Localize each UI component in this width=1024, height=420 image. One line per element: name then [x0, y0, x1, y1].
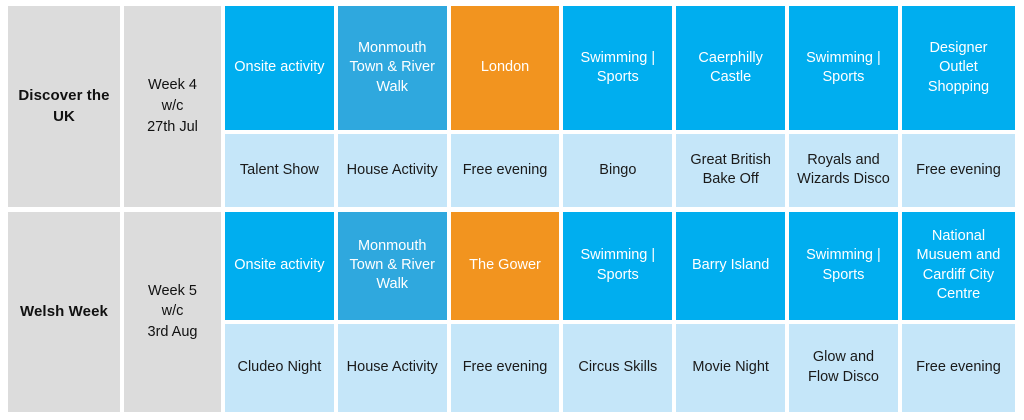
week-number: Week 4	[147, 75, 198, 96]
evening-activity-cell[interactable]: Bingo	[563, 134, 672, 207]
evening-activity-cell[interactable]: Cludeo Night	[225, 324, 334, 413]
day-activity-cell[interactable]: Swimming | Sports	[563, 6, 672, 130]
evening-activity-cell[interactable]: Free evening	[451, 134, 560, 207]
day-column: Caerphilly Castle Great British Bake Off	[676, 6, 785, 207]
day-column: Swimming | Sports Royals and Wizards Dis…	[789, 6, 898, 207]
day-activity-cell[interactable]: Monmouth Town & River Walk	[338, 212, 447, 320]
day-column: Swimming | Sports Glow and Flow Disco	[789, 212, 898, 413]
evening-activity-cell[interactable]: House Activity	[338, 324, 447, 413]
day-activity-cell[interactable]: The Gower	[451, 212, 560, 320]
evening-activity-cell[interactable]: Free evening	[902, 134, 1015, 207]
day-activity-cell[interactable]: Swimming | Sports	[789, 212, 898, 320]
week-theme-label: Discover the UK	[8, 6, 120, 207]
evening-activity-cell[interactable]: Royals and Wizards Disco	[789, 134, 898, 207]
day-activity-cell[interactable]: Swimming | Sports	[789, 6, 898, 130]
day-column: Swimming | Sports Bingo	[563, 6, 672, 207]
evening-activity-cell[interactable]: Free evening	[451, 324, 560, 413]
evening-activity-cell[interactable]: Talent Show	[225, 134, 334, 207]
day-activity-cell[interactable]: Onsite activity	[225, 212, 334, 320]
day-column: Onsite activity Talent Show	[225, 6, 334, 207]
week-wc: w/c	[147, 96, 198, 117]
days-area: Onsite activity Cludeo Night Monmouth To…	[225, 212, 1015, 413]
day-activity-cell[interactable]: London	[451, 6, 560, 130]
week-row: Discover the UK Week 4 w/c 27th Jul Onsi…	[8, 6, 1015, 207]
day-column: Onsite activity Cludeo Night	[225, 212, 334, 413]
day-activity-cell[interactable]: Designer Outlet Shopping	[902, 6, 1015, 130]
day-activity-cell[interactable]: Swimming | Sports	[563, 212, 672, 320]
days-area: Onsite activity Talent Show Monmouth Tow…	[225, 6, 1015, 207]
day-column: Swimming | Sports Circus Skills	[563, 212, 672, 413]
week-date: 27th Jul	[147, 117, 198, 138]
evening-activity-cell[interactable]: Free evening	[902, 324, 1015, 413]
day-column: Barry Island Movie Night	[676, 212, 785, 413]
activity-timetable: Discover the UK Week 4 w/c 27th Jul Onsi…	[0, 0, 1024, 420]
evening-activity-cell[interactable]: Great British Bake Off	[676, 134, 785, 207]
week-number: Week 5	[148, 281, 198, 302]
evening-activity-cell[interactable]: Movie Night	[676, 324, 785, 413]
week-row: Welsh Week Week 5 w/c 3rd Aug Onsite act…	[8, 212, 1015, 413]
week-date: 3rd Aug	[148, 322, 198, 343]
day-activity-cell[interactable]: Caerphilly Castle	[676, 6, 785, 130]
day-activity-cell[interactable]: National Musuem and Cardiff City Centre	[902, 212, 1015, 320]
day-column: National Musuem and Cardiff City Centre …	[902, 212, 1015, 413]
week-date-label: Week 4 w/c 27th Jul	[124, 6, 221, 207]
evening-activity-cell[interactable]: Circus Skills	[563, 324, 672, 413]
day-activity-cell[interactable]: Onsite activity	[225, 6, 334, 130]
week-wc: w/c	[148, 301, 198, 322]
day-column: London Free evening	[451, 6, 560, 207]
day-column: Designer Outlet Shopping Free evening	[902, 6, 1015, 207]
evening-activity-cell[interactable]: House Activity	[338, 134, 447, 207]
day-column: Monmouth Town & River Walk House Activit…	[338, 212, 447, 413]
week-date-label: Week 5 w/c 3rd Aug	[124, 212, 221, 413]
day-activity-cell[interactable]: Monmouth Town & River Walk	[338, 6, 447, 130]
day-activity-cell[interactable]: Barry Island	[676, 212, 785, 320]
evening-activity-cell[interactable]: Glow and Flow Disco	[789, 324, 898, 413]
day-column: The Gower Free evening	[451, 212, 560, 413]
week-theme-label: Welsh Week	[8, 212, 120, 413]
day-column: Monmouth Town & River Walk House Activit…	[338, 6, 447, 207]
